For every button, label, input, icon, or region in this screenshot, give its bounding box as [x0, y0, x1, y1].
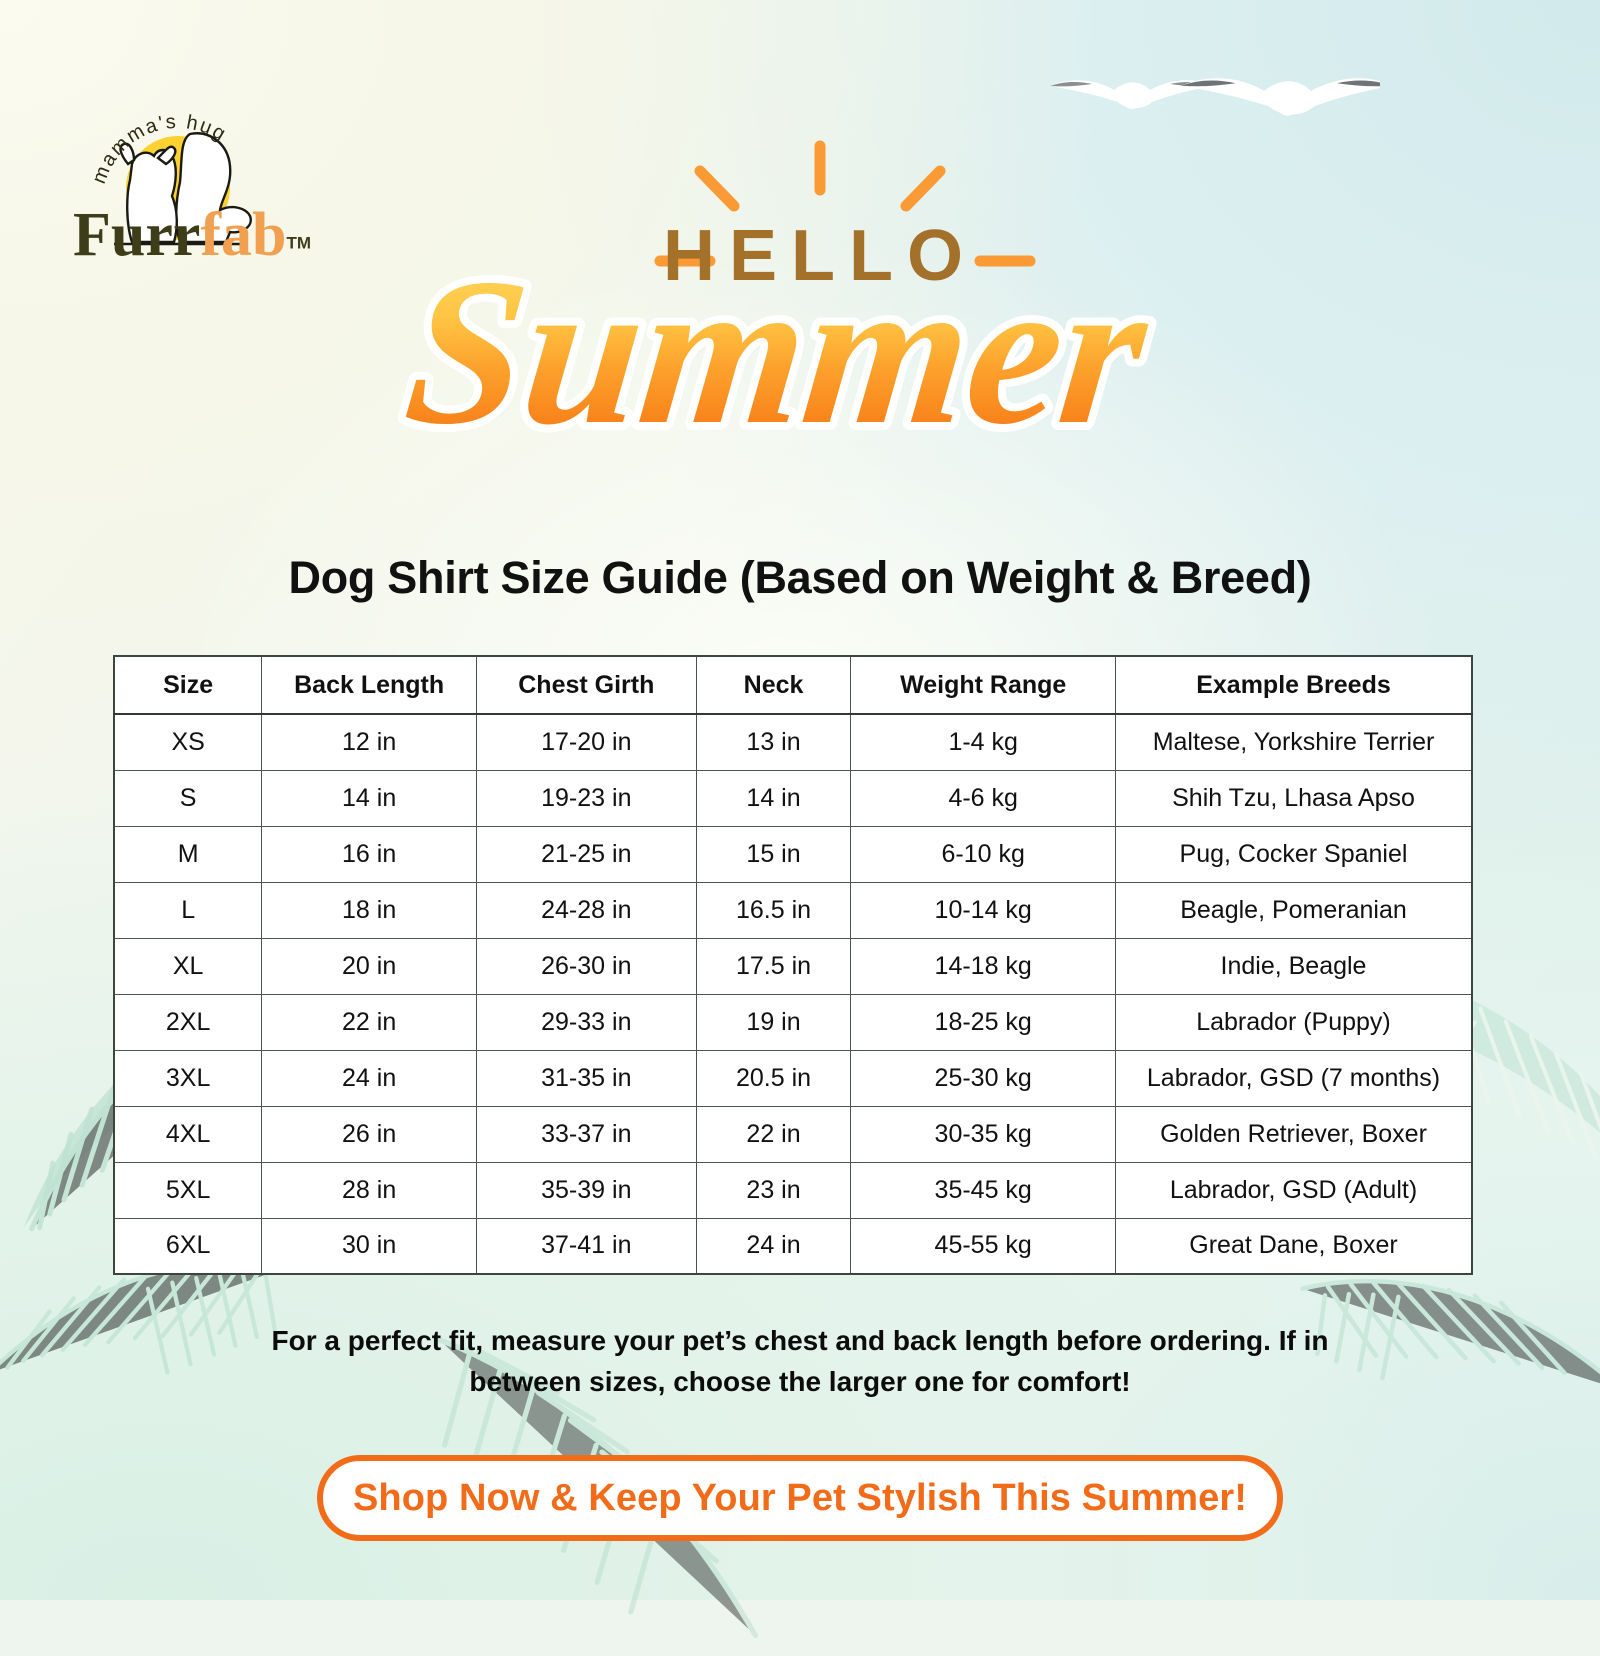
cell-neck: 23 in: [696, 1162, 851, 1218]
table-row: 4XL26 in33-37 in22 in30-35 kgGolden Retr…: [114, 1106, 1472, 1162]
cell-neck: 15 in: [696, 826, 851, 882]
cell-size: 4XL: [114, 1106, 262, 1162]
cell-weight-range: 10-14 kg: [851, 882, 1116, 938]
cell-neck: 16.5 in: [696, 882, 851, 938]
table-header: Size Back Length Chest Girth Neck Weight…: [114, 656, 1472, 714]
svg-text:Summer: Summer: [397, 235, 1159, 468]
cell-chest-girth: 37-41 in: [476, 1218, 696, 1274]
table-row: 3XL24 in31-35 in20.5 in25-30 kgLabrador,…: [114, 1050, 1472, 1106]
cell-example-breeds: Great Dane, Boxer: [1115, 1218, 1472, 1274]
cell-chest-girth: 17-20 in: [476, 714, 696, 770]
cell-back-length: 24 in: [262, 1050, 477, 1106]
cell-example-breeds: Indie, Beagle: [1115, 938, 1472, 994]
cell-back-length: 20 in: [262, 938, 477, 994]
shop-now-button[interactable]: Shop Now & Keep Your Pet Stylish This Su…: [317, 1455, 1283, 1541]
cell-example-breeds: Maltese, Yorkshire Terrier: [1115, 714, 1472, 770]
cell-weight-range: 35-45 kg: [851, 1162, 1116, 1218]
cell-weight-range: 1-4 kg: [851, 714, 1116, 770]
table-row: 6XL30 in37-41 in24 in45-55 kgGreat Dane,…: [114, 1218, 1472, 1274]
page-title: Dog Shirt Size Guide (Based on Weight & …: [0, 552, 1600, 604]
column-header-size: Size: [114, 656, 262, 714]
seagulls-group: [1040, 40, 1380, 135]
cell-back-length: 28 in: [262, 1162, 477, 1218]
cell-weight-range: 4-6 kg: [851, 770, 1116, 826]
cell-neck: 19 in: [696, 994, 851, 1050]
cell-weight-range: 30-35 kg: [851, 1106, 1116, 1162]
cell-example-breeds: Labrador, GSD (7 months): [1115, 1050, 1472, 1106]
column-header-neck: Neck: [696, 656, 851, 714]
cell-size: 3XL: [114, 1050, 262, 1106]
cell-weight-range: 18-25 kg: [851, 994, 1116, 1050]
cell-size: M: [114, 826, 262, 882]
hello-summer-hero: HELLO Summer Summer Summer Summer: [0, 128, 1600, 498]
cell-neck: 24 in: [696, 1218, 851, 1274]
table-row: 2XL22 in29-33 in19 in18-25 kgLabrador (P…: [114, 994, 1472, 1050]
cell-size: 2XL: [114, 994, 262, 1050]
cell-size: L: [114, 882, 262, 938]
cell-weight-range: 6-10 kg: [851, 826, 1116, 882]
cell-neck: 17.5 in: [696, 938, 851, 994]
cell-neck: 13 in: [696, 714, 851, 770]
cell-weight-range: 25-30 kg: [851, 1050, 1116, 1106]
cell-example-breeds: Labrador (Puppy): [1115, 994, 1472, 1050]
seagull-icon: [1181, 78, 1380, 115]
cell-example-breeds: Beagle, Pomeranian: [1115, 882, 1472, 938]
cell-chest-girth: 21-25 in: [476, 826, 696, 882]
cell-back-length: 22 in: [262, 994, 477, 1050]
table-row: L18 in24-28 in16.5 in10-14 kgBeagle, Pom…: [114, 882, 1472, 938]
cell-weight-range: 14-18 kg: [851, 938, 1116, 994]
cell-size: XL: [114, 938, 262, 994]
table-row: 5XL28 in35-39 in23 in35-45 kgLabrador, G…: [114, 1162, 1472, 1218]
cell-chest-girth: 33-37 in: [476, 1106, 696, 1162]
cell-back-length: 14 in: [262, 770, 477, 826]
shop-now-button-label: Shop Now & Keep Your Pet Stylish This Su…: [353, 1477, 1247, 1520]
column-header-back-length: Back Length: [262, 656, 477, 714]
cell-back-length: 16 in: [262, 826, 477, 882]
summer-script-text: Summer Summer Summer Summer: [397, 235, 1164, 474]
cell-example-breeds: Labrador, GSD (Adult): [1115, 1162, 1472, 1218]
table-header-row: Size Back Length Chest Girth Neck Weight…: [114, 656, 1472, 714]
table-row: S14 in19-23 in14 in4-6 kgShih Tzu, Lhasa…: [114, 770, 1472, 826]
cell-size: 6XL: [114, 1218, 262, 1274]
table-row: XS12 in17-20 in13 in1-4 kgMaltese, Yorks…: [114, 714, 1472, 770]
cell-size: S: [114, 770, 262, 826]
table-body: XS12 in17-20 in13 in1-4 kgMaltese, Yorks…: [114, 714, 1472, 1274]
cell-chest-girth: 24-28 in: [476, 882, 696, 938]
cell-example-breeds: Shih Tzu, Lhasa Apso: [1115, 770, 1472, 826]
cell-chest-girth: 29-33 in: [476, 994, 696, 1050]
cell-chest-girth: 35-39 in: [476, 1162, 696, 1218]
cell-chest-girth: 31-35 in: [476, 1050, 696, 1106]
cell-neck: 20.5 in: [696, 1050, 851, 1106]
cell-chest-girth: 26-30 in: [476, 938, 696, 994]
cell-back-length: 12 in: [262, 714, 477, 770]
cell-example-breeds: Pug, Cocker Spaniel: [1115, 826, 1472, 882]
cell-weight-range: 45-55 kg: [851, 1218, 1116, 1274]
cell-neck: 14 in: [696, 770, 851, 826]
column-header-example-breeds: Example Breeds: [1115, 656, 1472, 714]
size-guide-table: Size Back Length Chest Girth Neck Weight…: [113, 655, 1473, 1275]
cell-chest-girth: 19-23 in: [476, 770, 696, 826]
cell-neck: 22 in: [696, 1106, 851, 1162]
cell-size: XS: [114, 714, 262, 770]
cell-size: 5XL: [114, 1162, 262, 1218]
table-row: XL20 in26-30 in17.5 in14-18 kgIndie, Bea…: [114, 938, 1472, 994]
cell-back-length: 26 in: [262, 1106, 477, 1162]
column-header-chest-girth: Chest Girth: [476, 656, 696, 714]
fit-advice-note: For a perfect fit, measure your pet’s ch…: [225, 1320, 1375, 1403]
cell-back-length: 18 in: [262, 882, 477, 938]
fit-advice-line-1: For a perfect fit, measure your pet’s ch…: [225, 1320, 1375, 1361]
fit-advice-line-2: between sizes, choose the larger one for…: [225, 1361, 1375, 1402]
cell-back-length: 30 in: [262, 1218, 477, 1274]
table-row: M16 in21-25 in15 in6-10 kgPug, Cocker Sp…: [114, 826, 1472, 882]
cell-example-breeds: Golden Retriever, Boxer: [1115, 1106, 1472, 1162]
column-header-weight-range: Weight Range: [851, 656, 1116, 714]
